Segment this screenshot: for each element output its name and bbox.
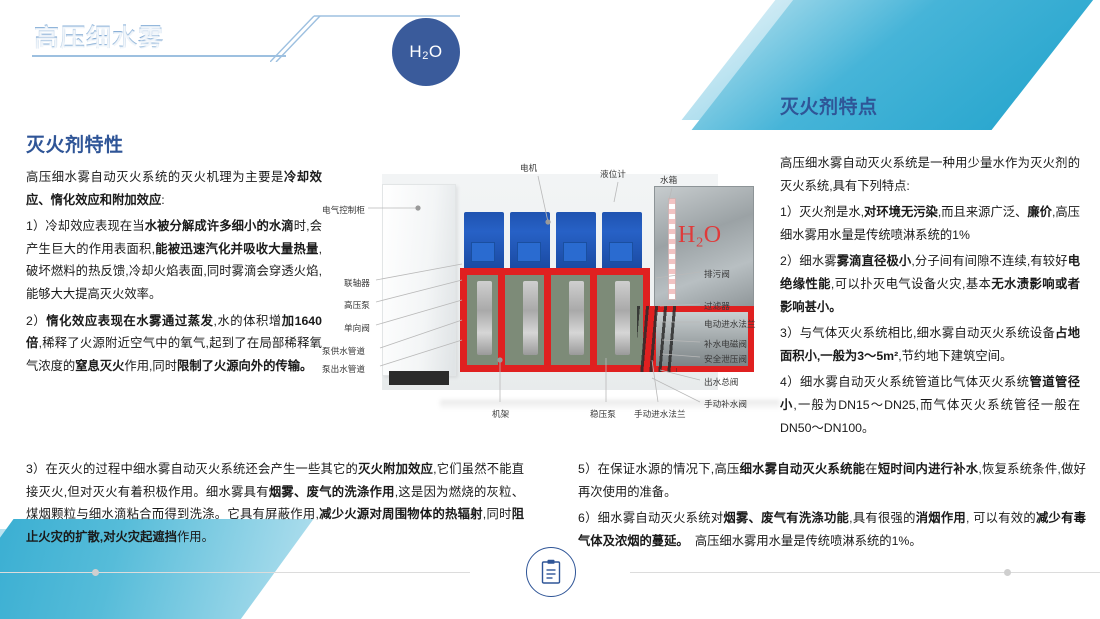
diagram-label: 单向阀 <box>344 322 370 334</box>
equipment-photo: H₂O <box>382 174 718 390</box>
footer-divider-left <box>0 572 470 573</box>
bottom-left-body: 3）在灭火的过程中细水雾自动灭火系统还会产生一些其它的灭火附加效应,它们虽然不能… <box>26 458 524 552</box>
right-section-heading: 灭火剂特点 <box>780 92 878 119</box>
motor-graphic-4 <box>602 212 642 268</box>
corner-decoration-top-right <box>692 0 1100 130</box>
rack-bar-3 <box>590 268 597 372</box>
diagram-label: 补水电磁阀 <box>704 338 747 350</box>
footer-dot-right <box>1004 569 1011 576</box>
diagram-label: 电动进水法兰 <box>704 318 756 330</box>
diagram-label: 过滤器 <box>704 300 730 312</box>
left-section-heading: 灭火剂特性 <box>26 130 124 157</box>
diagram-label: 高压泵 <box>344 299 370 311</box>
control-cabinet-graphic <box>382 184 456 376</box>
motor-graphic-1 <box>464 212 504 268</box>
diagram-label: 手动进水法兰 <box>634 408 686 420</box>
pump-column-2 <box>523 281 538 355</box>
tank-h2o-text: H₂O <box>678 222 721 249</box>
bottom-right-body: 5）在保证水源的情况下,高压细水雾自动灭火系统能在短时间内进行补水,恢复系统条件… <box>578 458 1086 556</box>
rack-bar-1 <box>498 268 505 372</box>
rack-bar-2 <box>544 268 551 372</box>
title-underline <box>32 55 286 57</box>
footer-dot-left <box>92 569 99 576</box>
diagram-label: 水箱 <box>660 174 677 186</box>
level-gauge-graphic <box>668 198 676 300</box>
diagram-label: 电气控制柜 <box>322 204 365 216</box>
system-diagram: H₂O <box>322 160 778 428</box>
pump-column-3 <box>569 281 584 355</box>
diagram-label: 手动补水阀 <box>704 398 747 410</box>
pipework-graphic <box>637 306 677 372</box>
left-column-body: 高压细水雾自动灭火系统的灭火机理为主要是冷却效应、惰化效应和附加效应:1）冷却效… <box>26 166 322 381</box>
diagram-label: 出水总阀 <box>704 376 738 388</box>
h2o-badge: H2O <box>392 18 460 86</box>
page-title: 高压细水雾 <box>34 18 164 54</box>
diagram-label: 稳压泵 <box>590 408 616 420</box>
footer-divider-right <box>630 572 1100 573</box>
diagram-label: 联轴器 <box>344 277 370 289</box>
pump-column-1 <box>477 281 492 355</box>
diagram-label: 机架 <box>492 408 509 420</box>
rack-interior <box>467 275 643 365</box>
diagram-label: 液位计 <box>600 168 626 180</box>
motor-graphic-3 <box>556 212 596 268</box>
diagram-label: 电机 <box>520 162 537 174</box>
pump-column-4 <box>615 281 630 355</box>
clipboard-icon <box>526 547 576 597</box>
diagram-label: 泵出水管道 <box>322 363 365 375</box>
h2o-label: H2O <box>409 42 442 62</box>
right-column-body: 高压细水雾自动灭火系统是一种用少量水作为灭火剂的灭火系统,具有下列特点:1）灭火… <box>780 152 1080 443</box>
diagram-label: 排污阀 <box>704 268 730 280</box>
diagram-label: 泵供水管道 <box>322 345 365 357</box>
motor-graphic-2 <box>510 212 550 268</box>
diagram-label: 安全泄压阀 <box>704 353 747 365</box>
slide-root: 高压细水雾 H2O 灭火剂特性 灭火剂特点 高压细水雾自动灭火系统的灭火机理为主… <box>0 0 1100 619</box>
pump-rack-graphic <box>460 268 650 372</box>
